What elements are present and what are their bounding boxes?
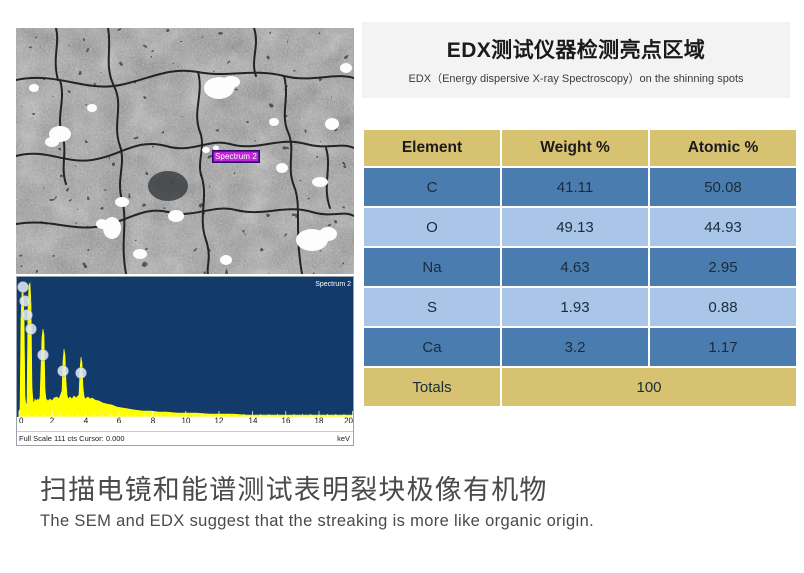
edx-spectrum-plot: 0 2 4 6 8 10 12 14 16 18 20 Spectrum 2	[17, 277, 354, 423]
sem-image-panel: Spectrum 2	[16, 28, 354, 274]
edx-spectrum-svg: 0 2 4 6 8 10 12 14 16 18 20	[17, 277, 354, 423]
edx-composition-table: Element Weight % Atomic % C 41.11 50.08 …	[362, 128, 798, 408]
cell-atomic: 50.08	[650, 168, 796, 206]
table-row: O 49.13 44.93	[364, 208, 796, 246]
page-subtitle: EDX（Energy dispersive X-ray Spectroscopy…	[362, 70, 790, 86]
table-row: Ca 3.2 1.17	[364, 328, 796, 366]
table-row: S 1.93 0.88	[364, 288, 796, 326]
cell-atomic: 44.93	[650, 208, 796, 246]
edx-spectrum-panel: 0 2 4 6 8 10 12 14 16 18 20 Spectrum 2 F…	[16, 276, 354, 446]
svg-text:20: 20	[344, 417, 353, 424]
svg-text:6: 6	[117, 417, 122, 424]
cell-element: S	[364, 288, 500, 326]
cell-element: O	[364, 208, 500, 246]
table-row: C 41.11 50.08	[364, 168, 796, 206]
page-title: EDX测试仪器检测亮点区域	[362, 34, 790, 64]
cell-weight: 1.93	[502, 288, 648, 326]
column-header-weight: Weight %	[502, 130, 648, 166]
edx-full-scale-text: Full Scale 111 cts Cursor: 0.000	[19, 433, 125, 444]
cell-element: C	[364, 168, 500, 206]
edx-header-band: EDX测试仪器检测亮点区域 EDX（Energy dispersive X-ra…	[362, 22, 790, 98]
edx-spectrum-title: Spectrum 2	[315, 280, 351, 289]
cell-element: Na	[364, 248, 500, 286]
table-header-row: Element Weight % Atomic %	[364, 130, 796, 166]
caption-english: The SEM and EDX suggest that the streaki…	[40, 512, 594, 531]
svg-text:14: 14	[249, 417, 258, 424]
cell-totals-label: Totals	[364, 368, 500, 406]
svg-text:16: 16	[282, 417, 291, 424]
cell-atomic: 1.17	[650, 328, 796, 366]
cell-totals-value: 100	[502, 368, 796, 406]
cell-atomic: 0.88	[650, 288, 796, 326]
svg-text:0: 0	[19, 417, 24, 424]
edx-axis-unit-label: keV	[337, 433, 350, 444]
cell-weight: 41.11	[502, 168, 648, 206]
svg-text:2: 2	[50, 417, 55, 424]
column-header-atomic: Atomic %	[650, 130, 796, 166]
table-totals-row: Totals 100	[364, 368, 796, 406]
cell-weight: 49.13	[502, 208, 648, 246]
edx-status-bar: Full Scale 111 cts Cursor: 0.000 keV	[17, 431, 353, 445]
cell-weight: 3.2	[502, 328, 648, 366]
cell-atomic: 2.95	[650, 248, 796, 286]
svg-text:10: 10	[182, 417, 191, 424]
column-header-element: Element	[364, 130, 500, 166]
svg-text:4: 4	[84, 417, 89, 424]
table-row: Na 4.63 2.95	[364, 248, 796, 286]
cell-element: Ca	[364, 328, 500, 366]
caption-chinese: 扫描电镜和能谱测试表明裂块极像有机物	[40, 468, 548, 507]
cell-weight: 4.63	[502, 248, 648, 286]
svg-text:18: 18	[315, 417, 324, 424]
sem-micrograph	[16, 28, 354, 274]
svg-text:8: 8	[151, 417, 156, 424]
sem-spectrum-marker-label: Spectrum 2	[212, 150, 260, 163]
svg-text:12: 12	[215, 417, 224, 424]
